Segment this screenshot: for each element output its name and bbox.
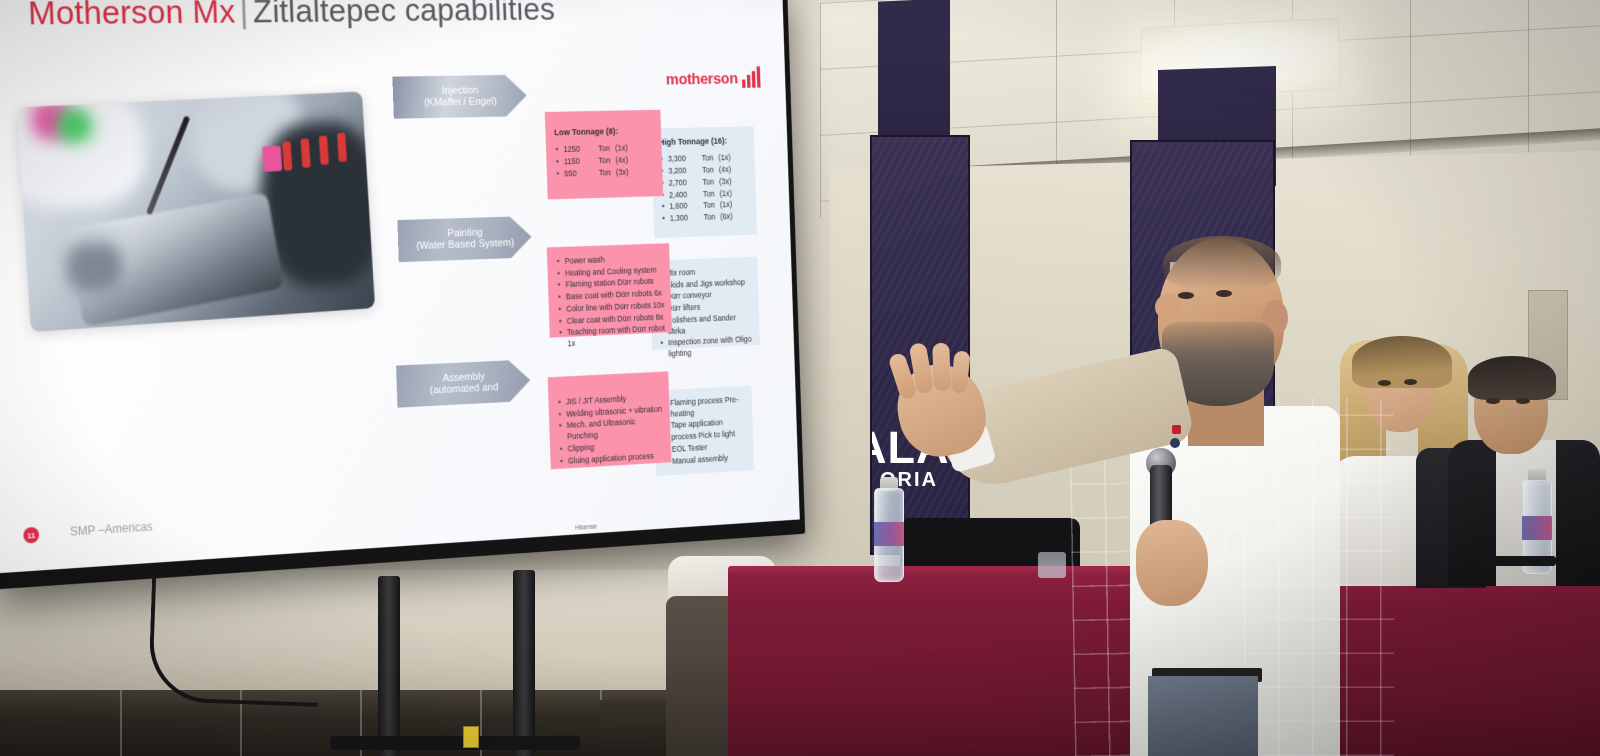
bottle-label (1522, 516, 1552, 540)
tonnage-unit: Ton (702, 153, 714, 164)
tonnage-unit: Ton (703, 200, 715, 211)
slide-title-rest: Zitlaltepec capabilities (252, 0, 555, 30)
eye (1178, 292, 1194, 299)
tonnage-unit: Ton (599, 168, 611, 179)
tonnage-count: (4x) (615, 155, 628, 166)
tonnage-unit: Ton (598, 156, 610, 167)
process-arrow-assembly: Assembly (automated and (396, 359, 531, 407)
drinking-glass (1038, 552, 1066, 578)
hair-top (1352, 336, 1452, 388)
display-stand-post-left (378, 576, 400, 756)
lapel-pin-blue (1170, 438, 1180, 448)
tonnage-count: (3x) (719, 176, 732, 187)
tonnage-count: (3x) (616, 167, 629, 178)
eye (1486, 398, 1500, 404)
painting-left-box: Power wash Heating and Cooling system Fl… (547, 243, 672, 337)
slide-footer-text: SMP –Americas (70, 520, 153, 539)
arrow-assembly-line2: (automated and (430, 382, 499, 397)
tonnage-unit: Ton (702, 165, 714, 176)
factory-photo (17, 91, 375, 332)
process-arrow-injection: Injection (KMaffei / Engel) (392, 75, 527, 119)
slide-page-number: 11 (23, 527, 39, 544)
list-item: 1,300Ton(6x) (661, 211, 751, 225)
tonnage-count: (4x) (719, 165, 732, 176)
tonnage-count: (1x) (719, 188, 732, 199)
display-power-cable (148, 571, 322, 707)
slide-title: Motherson Mx|Zitlaltepec capabilities (27, 0, 555, 33)
hair (1468, 356, 1556, 400)
warning-label (463, 726, 479, 748)
tonnage-count: (1x) (720, 200, 733, 211)
slide-title-brand: Motherson Mx (27, 0, 235, 32)
eye (1216, 290, 1232, 297)
tonnage-count: (1x) (615, 143, 628, 154)
assembly-right-list: Flaming process Pre-heating Tape applica… (661, 394, 748, 467)
tonnage-unit: Ton (704, 212, 716, 223)
motherson-logo: motherson (666, 67, 761, 89)
tonnage-unit: Ton (703, 189, 715, 200)
jacket-right-panel (1244, 398, 1394, 756)
list-item: 550Ton(3x) (555, 166, 655, 180)
tonnage-unit: Ton (702, 177, 714, 188)
list-item: Teaching room with Dürr robot 1x (558, 323, 666, 350)
tonnage-value: 3,300 (668, 154, 697, 166)
tonnage-value: 1250 (563, 144, 593, 156)
assembly-left-box: JIS / JIT Assembly Welding ultrasonic + … (548, 371, 672, 469)
painting-left-list: Power wash Heating and Cooling system Fl… (556, 253, 667, 350)
presentation-room-scene: ALA ORIA UNI DE TE A Motherson Mx|Zitlal… (0, 0, 1600, 756)
photo-robot-arm (146, 115, 190, 215)
high-tonnage-list: 3,300Ton(1x) 3,200Ton(4x) 2,700Ton(3x) 2… (659, 153, 751, 225)
tonnage-value: 2,400 (669, 189, 698, 201)
low-tonnage-box: Low Tonnage (8): 1250Ton(1x) 1150Ton(4x)… (545, 110, 663, 200)
eye (1516, 398, 1530, 404)
tonnage-unit: Ton (598, 144, 610, 155)
list-item: Polishers and Sander Mirka (659, 312, 755, 338)
microphone-holding-hand (1136, 520, 1208, 606)
list-item: Inspection zone with Oligo lighting (659, 334, 755, 360)
tonnage-value: 1,600 (669, 201, 698, 213)
tonnage-value: 2,700 (669, 177, 698, 189)
assembly-left-list: JIS / JIT Assembly Welding ultrasonic + … (557, 392, 665, 467)
low-tonnage-list: 1250Ton(1x) 1150Ton(4x) 550Ton(3x) (555, 143, 656, 180)
eye (1404, 379, 1417, 385)
painting-right-list: Mix room Skids and Jigs workshop Dürr co… (657, 265, 755, 360)
nose (1155, 294, 1181, 320)
slide-title-separator: | (235, 0, 254, 30)
motherson-logo-text: motherson (666, 70, 738, 90)
high-tonnage-heading: High Tonnage (16): (659, 135, 750, 149)
bottle-label (874, 522, 904, 546)
slide-canvas: Motherson Mx|Zitlaltepec capabilities mo… (0, 0, 800, 573)
hair (1163, 236, 1281, 290)
arrow-painting-line2: (Water Based System) (416, 237, 514, 252)
trousers (1148, 676, 1258, 756)
eye (1378, 380, 1391, 386)
mobile-phone (1484, 556, 1556, 566)
high-tonnage-box: High Tonnage (16): 3,300Ton(1x) 3,200Ton… (651, 126, 757, 238)
tonnage-value: 550 (564, 168, 594, 180)
display-stand-post-right (513, 570, 535, 756)
tonnage-count: (1x) (718, 153, 731, 164)
display-screen[interactable]: Motherson Mx|Zitlaltepec capabilities mo… (0, 0, 800, 573)
presentation-display[interactable]: Motherson Mx|Zitlaltepec capabilities mo… (0, 0, 805, 589)
lapel-pin-red (1172, 425, 1181, 434)
low-tonnage-heading: Low Tonnage (8): (554, 125, 654, 139)
tonnage-value: 1150 (564, 156, 594, 168)
display-stand-base (330, 736, 580, 750)
tonnage-value: 1,300 (670, 213, 699, 225)
arrow-injection-line2: (KMaffei / Engel) (424, 96, 497, 109)
process-arrow-painting: Painting (Water Based System) (397, 216, 532, 262)
motherson-logo-bars-icon (742, 67, 761, 88)
tonnage-value: 3,200 (668, 166, 697, 178)
tonnage-count: (6x) (720, 212, 733, 223)
